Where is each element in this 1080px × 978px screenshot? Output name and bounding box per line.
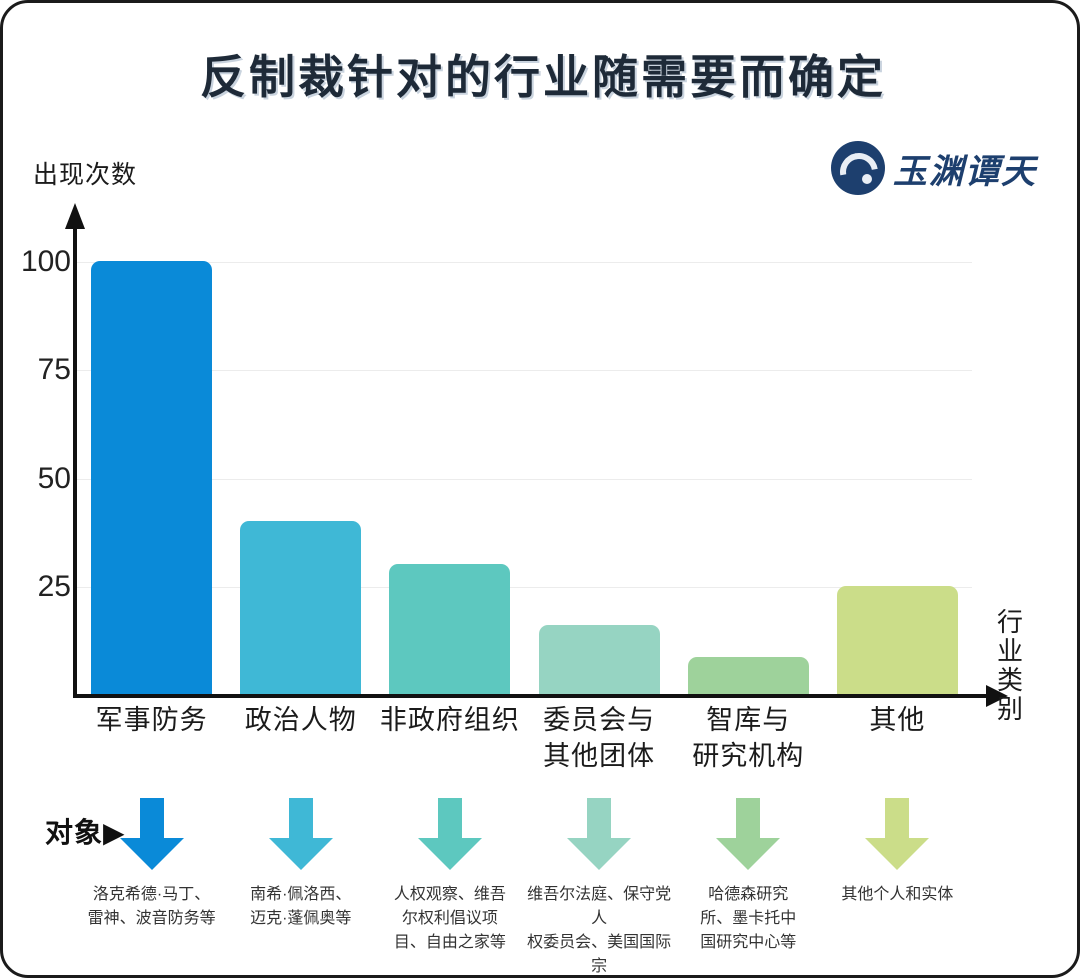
page-title: 反制裁针对的行业随需要而确定 [3,41,1080,107]
category-label-5: 智库与研究机构 [674,703,823,775]
down-arrow-icon-2 [265,798,337,870]
bar-series [77,224,972,694]
y-axis-tick-label: 75 [38,353,79,387]
down-arrow-icon-6 [861,798,933,870]
down-arrow-icon-4 [563,798,635,870]
object-arrows [77,798,992,878]
object-description-1: 洛克希德·马丁、雷神、波音防务等 [77,883,226,931]
y-axis-tick-label: 50 [38,462,79,496]
bar-5 [688,657,809,694]
category-label-3: 非政府组织 [375,703,524,739]
object-description-5: 哈德森研究所、墨卡托中国研究中心等 [674,883,823,955]
object-descriptions: 洛克希德·马丁、雷神、波音防务等南希·佩洛西、迈克·蓬佩奥等人权观察、维吾尔权利… [77,883,992,973]
down-arrow-icon-5 [712,798,784,870]
infographic-card: 反制裁针对的行业随需要而确定 玉渊谭天 出现次数 100755025 行业类别 … [0,0,1080,978]
brand-logo: 玉渊谭天 [831,141,1037,195]
category-label-6: 其他 [823,703,972,739]
bar-3 [389,564,510,694]
y-axis-title: 出现次数 [33,155,137,191]
bar-4 [539,625,660,694]
y-axis-tick-label: 100 [21,245,79,279]
x-axis-line [73,694,988,698]
y-axis-tick-label: 25 [38,570,79,604]
category-label-2: 政治人物 [226,703,375,739]
bar-1 [91,261,212,694]
yuyuantantian-logo-icon [831,141,885,195]
category-label-4: 委员会与其他团体 [525,703,674,775]
object-description-4: 维吾尔法庭、保守党人权委员会、美国国际宗教自由委员会成员等 [525,883,674,978]
down-arrow-icon-1 [116,798,188,870]
object-description-3: 人权观察、维吾尔权利倡议项目、自由之家等 [375,883,524,955]
x-axis-title: 行业类别 [993,608,1027,724]
down-arrow-icon-3 [414,798,486,870]
bar-6 [837,586,958,694]
object-description-6: 其他个人和实体 [823,883,972,907]
brand-name: 玉渊谭天 [893,144,1037,193]
bar-2 [240,521,361,694]
category-label-1: 军事防务 [77,703,226,739]
object-description-2: 南希·佩洛西、迈克·蓬佩奥等 [226,883,375,931]
category-labels: 军事防务政治人物非政府组织委员会与其他团体智库与研究机构其他 [77,703,992,803]
chart-plot-area: 100755025 [73,203,1013,698]
